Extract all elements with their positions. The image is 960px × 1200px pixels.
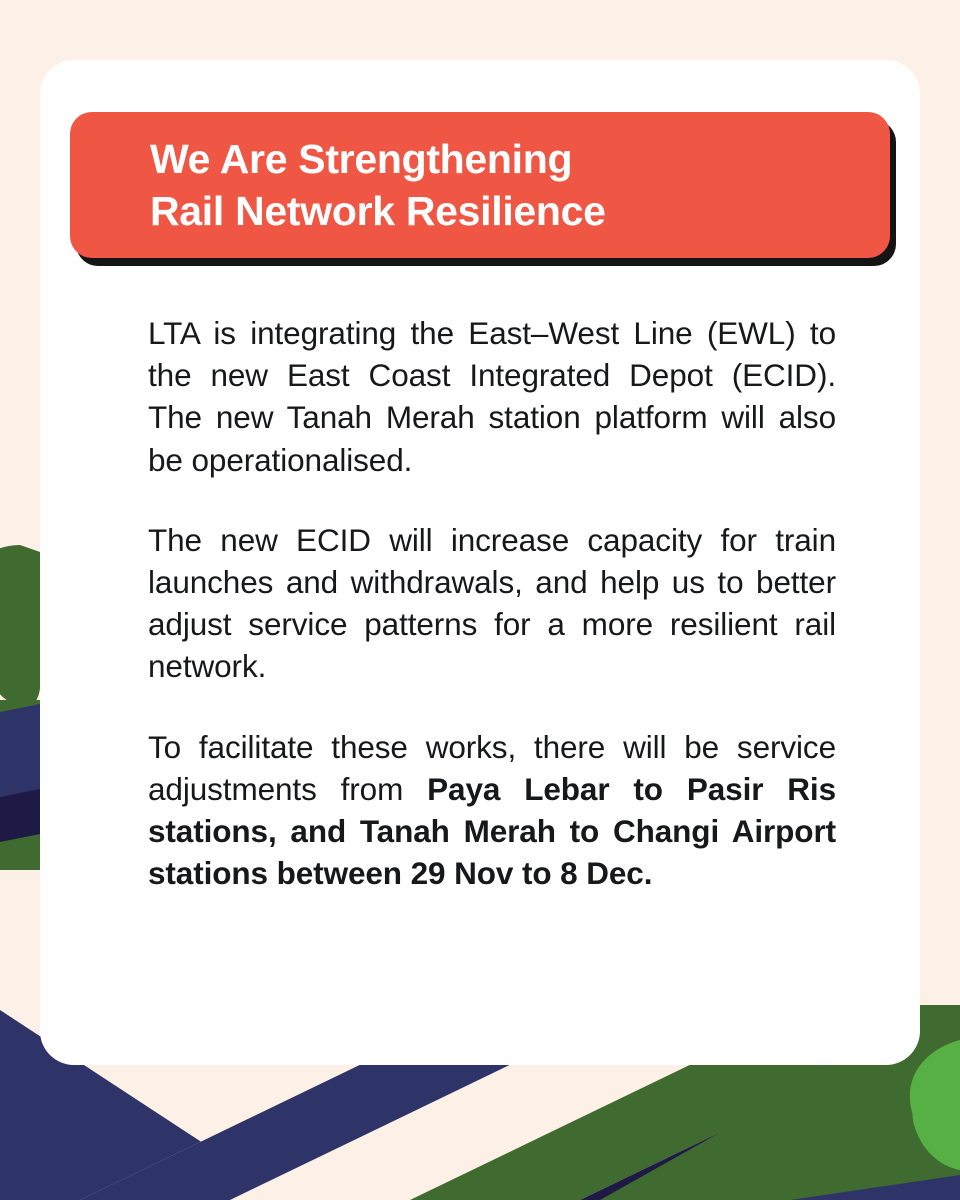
poster-canvas: We Are Strengthening Rail Network Resili…	[0, 0, 960, 1200]
paragraph-1: LTA is integrating the East–West Line (E…	[148, 312, 836, 481]
title-banner: We Are Strengthening Rail Network Resili…	[70, 112, 890, 260]
title-line-2: Rail Network Resilience	[70, 185, 890, 237]
left-green-blob-upper	[0, 545, 40, 707]
title-line-1: We Are Strengthening	[70, 133, 890, 185]
content-card: We Are Strengthening Rail Network Resili…	[40, 60, 920, 1065]
paragraph-2: The new ECID will increase capacity for …	[148, 519, 836, 688]
paragraph-3: To facilitate these works, there will be…	[148, 726, 836, 895]
title-banner-band: We Are Strengthening Rail Network Resili…	[70, 112, 890, 258]
body-copy: LTA is integrating the East–West Line (E…	[148, 312, 836, 894]
